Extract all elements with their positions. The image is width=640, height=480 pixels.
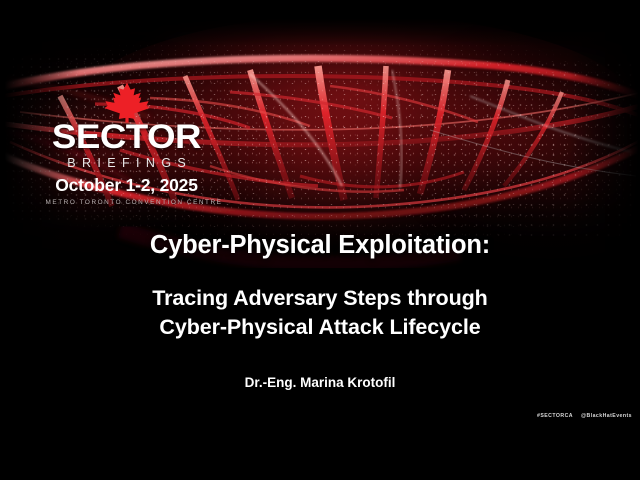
page-title: Cyber-Physical Exploitation:	[0, 228, 640, 262]
event-dates: October 1-2, 2025	[44, 175, 209, 196]
briefings-label: BRIEFINGS	[44, 155, 209, 172]
subtitle-line-1: Tracing Adversary Steps through	[0, 284, 640, 313]
event-venue: METRO TORONTO CONVENTION CENTRE	[44, 198, 209, 208]
maple-leaf-icon	[104, 82, 150, 123]
sector-logo: SECTOR BRIEFINGS October 1-2, 2025 METRO…	[44, 82, 209, 208]
talk-subtitle: Tracing Adversary Steps through Cyber-Ph…	[0, 284, 640, 342]
title-slide: SECTOR BRIEFINGS October 1-2, 2025 METRO…	[0, 0, 640, 480]
social-handle: @BlackHatEvents	[581, 412, 632, 420]
event-hashtag: #SECTORCA	[537, 412, 573, 420]
sector-wordmark: SECTOR	[37, 121, 215, 153]
speaker-name: Dr.-Eng. Marina Krotofil	[0, 374, 640, 392]
headline-block: Cyber-Physical Exploitation: Tracing Adv…	[0, 228, 640, 342]
hashtag-row: #SECTORCA @BlackHatEvents	[537, 412, 632, 420]
subtitle-line-2: Cyber-Physical Attack Lifecycle	[0, 313, 640, 342]
